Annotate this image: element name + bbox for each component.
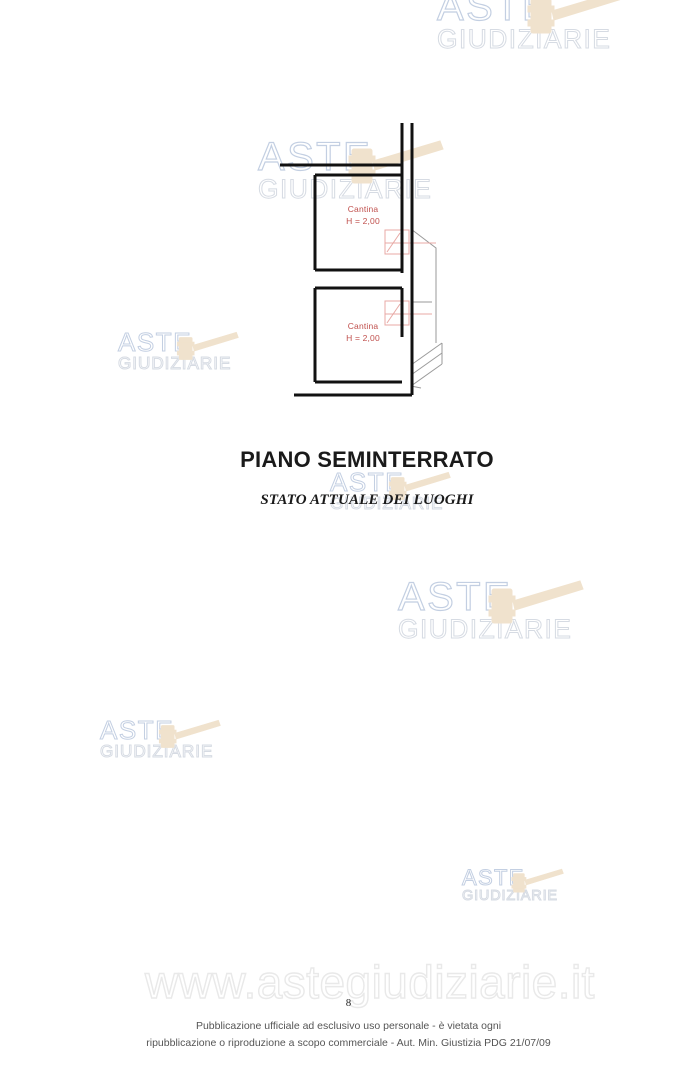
gavel-icon: [174, 331, 239, 366]
gavel-icon: [484, 579, 584, 633]
gavel-icon: [509, 868, 564, 898]
watermark-brand-aste: ASTE: [462, 868, 558, 889]
page-number: 8: [0, 997, 697, 1009]
room-name-lower: Cantina: [348, 321, 379, 331]
room-label-lower: Cantina H = 2,00: [320, 320, 406, 344]
room-height-upper: H = 2,00: [346, 216, 380, 226]
plan-caption-title: PIANO SEMINTERRATO: [0, 447, 697, 473]
projection-outline: [411, 229, 436, 343]
watermark-brand-giudiziarie: GIUDIZIARIE: [437, 26, 611, 52]
watermark-brand-giudiziarie: GIUDIZIARIE: [462, 889, 558, 904]
plan-caption-subtitle: STATO ATTUALE DEI LUOGHI: [0, 492, 697, 509]
gavel-icon: [523, 0, 623, 43]
footer-line-1: Pubblicazione ufficiale ad esclusivo uso…: [0, 1018, 697, 1035]
watermark-lower-left: ASTEGIUDIZIARIE: [100, 718, 213, 760]
watermark-brand-aste: ASTE: [100, 718, 213, 743]
watermark-brand-aste: ASTE: [330, 470, 443, 495]
walls: [280, 123, 412, 395]
watermark-lower-right: ASTEGIUDIZIARIE: [462, 868, 558, 903]
hatch-lines: [411, 343, 442, 388]
watermark-top-center-right: ASTEGIUDIZIARIE: [437, 0, 611, 52]
watermark-center-right-large: ASTEGIUDIZIARIE: [398, 578, 572, 642]
floor-plan-drawing: Cantina H = 2,00 Cantina H = 2,00: [280, 105, 490, 415]
room-label-upper: Cantina H = 2,00: [320, 203, 406, 227]
watermark-brand-aste: ASTE: [398, 578, 572, 616]
watermark-brand-giudiziarie: GIUDIZIARIE: [398, 616, 572, 642]
watermark-brand-giudiziarie: GIUDIZIARIE: [100, 743, 213, 760]
gavel-icon: [156, 719, 221, 754]
watermark-brand-giudiziarie: GIUDIZIARIE: [118, 355, 231, 372]
room-name-upper: Cantina: [348, 204, 379, 214]
footer-legal-notice: Pubblicazione ufficiale ad esclusivo uso…: [0, 1018, 697, 1052]
room-height-lower: H = 2,00: [346, 333, 380, 343]
floor-plan-svg: [280, 105, 490, 415]
footer-line-2: ripubblicazione o riproduzione a scopo c…: [0, 1035, 697, 1052]
watermark-brand-aste: ASTE: [437, 0, 611, 26]
watermark-brand-aste: ASTE: [118, 330, 231, 355]
watermark-mid-left: ASTEGIUDIZIARIE: [118, 330, 231, 372]
document-page: ASTEGIUDIZIARIEASTEGIUDIZIARIEASTEGIUDIZ…: [0, 0, 697, 1080]
